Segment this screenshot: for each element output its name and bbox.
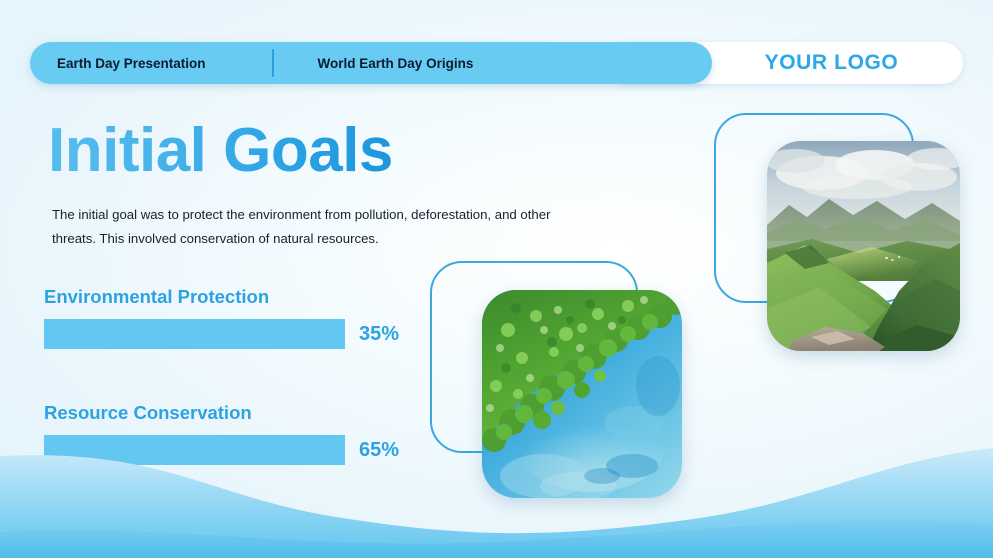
nav-divider <box>272 49 274 77</box>
header: YOUR LOGO Earth Day Presentation World E… <box>0 0 993 100</box>
nav-item-earth-day-presentation[interactable]: Earth Day Presentation <box>57 56 206 71</box>
progress-fill <box>44 319 345 349</box>
page-title: Initial Goals <box>48 118 393 183</box>
progress-track <box>44 319 345 349</box>
mountain-valley-card <box>714 113 964 353</box>
logo-text: YOUR LOGO <box>765 51 899 75</box>
nav-pill: Earth Day Presentation World Earth Day O… <box>30 42 712 84</box>
bottom-wave-decoration <box>0 438 993 558</box>
logo-text-word: LOGO <box>834 51 898 74</box>
logo-text-upper: YOUR <box>765 51 835 74</box>
progress-label: Resource Conservation <box>44 402 404 424</box>
mountain-valley-photo <box>767 141 960 351</box>
progress-value: 35% <box>359 323 399 346</box>
progress-row: 35% <box>44 319 404 349</box>
progress-block-environmental-protection: Environmental Protection 35% <box>44 286 404 349</box>
slide: YOUR LOGO Earth Day Presentation World E… <box>0 0 993 558</box>
body-paragraph: The initial goal was to protect the envi… <box>52 203 552 252</box>
progress-label: Environmental Protection <box>44 286 404 308</box>
nav-item-world-earth-day-origins[interactable]: World Earth Day Origins <box>318 56 474 71</box>
